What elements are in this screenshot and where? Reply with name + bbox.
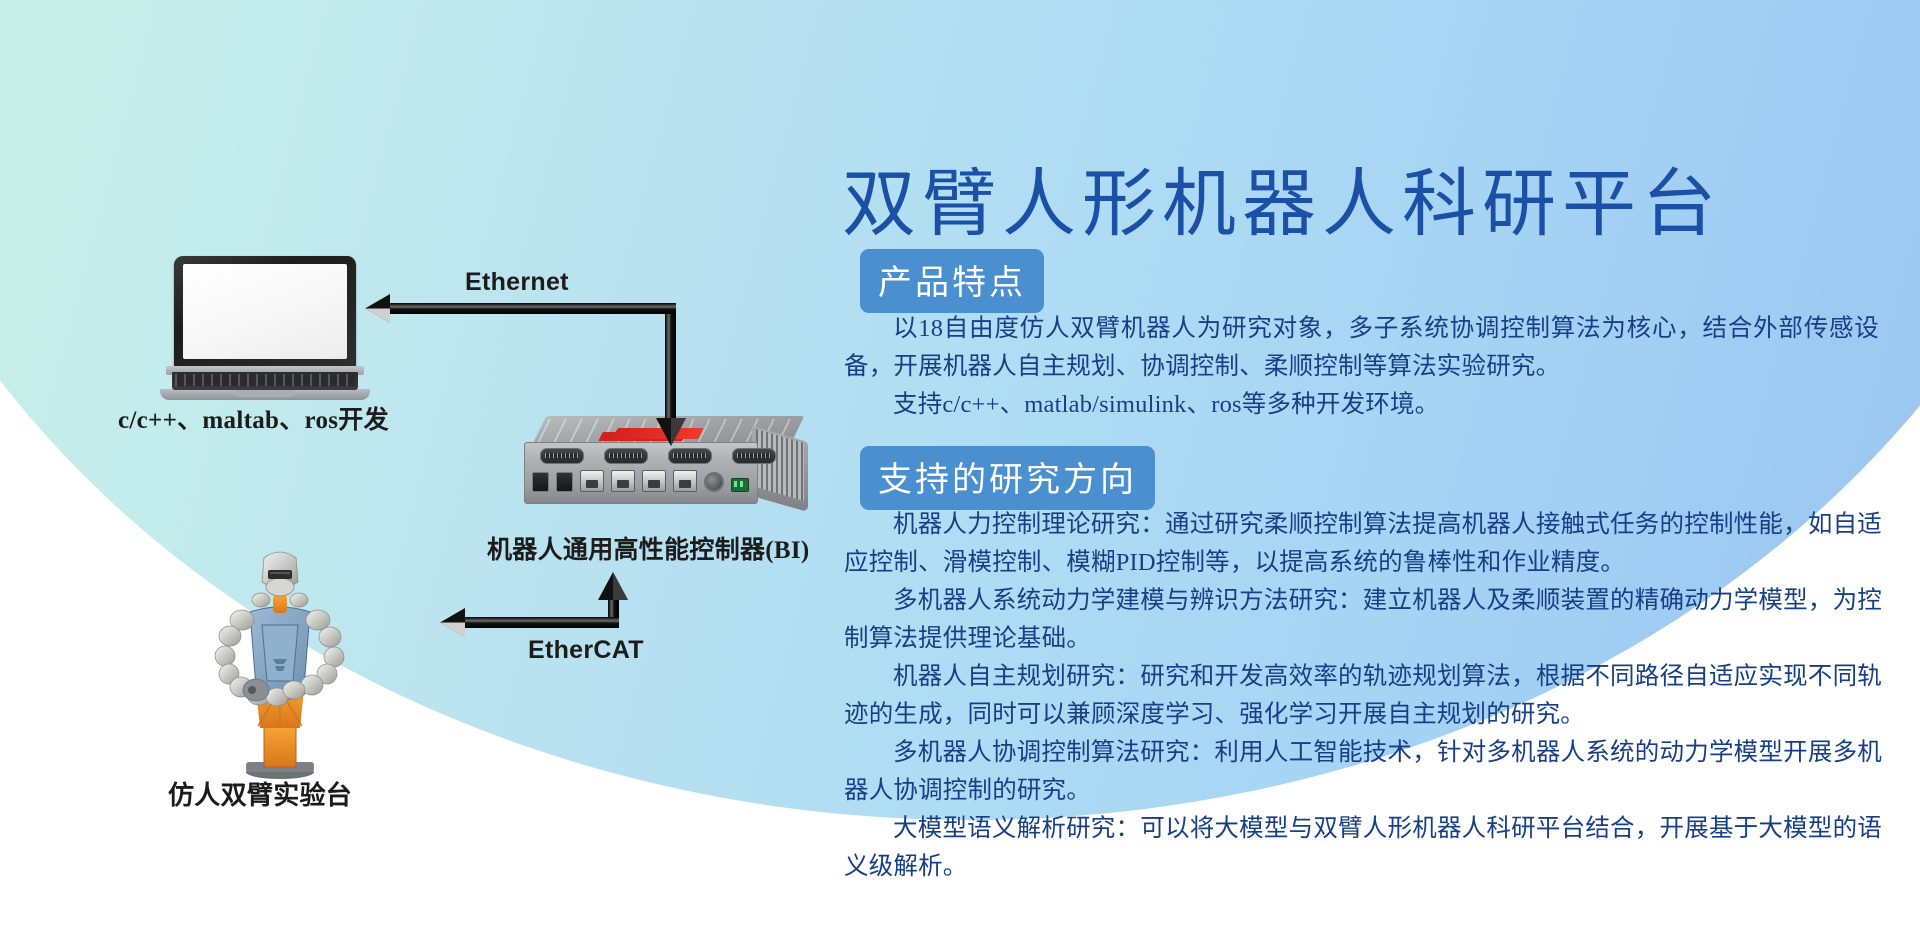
direction-item: 机器人力控制理论研究：通过研究柔顺控制算法提高机器人接触式任务的控制性能，如自适…	[844, 506, 1882, 582]
content-column: 双臂人形机器人科研平台 产品特点 以18自由度仿人双臂机器人为研究对象，多子系统…	[830, 0, 1890, 937]
link-label-ethernet: Ethernet	[465, 268, 569, 297]
section-badge-features: 产品特点	[860, 249, 1044, 313]
poster-root: Ethernet EtherCAT c/c++、maltab、ros开发 机器人…	[0, 0, 1920, 937]
link-label-ethercat: EtherCAT	[528, 636, 644, 665]
direction-item: 机器人自主规划研究：研究和开发高效率的轨迹规划算法，根据不同路径自适应实现不同轨…	[844, 658, 1882, 734]
direction-item: 大模型语义解析研究：可以将大模型与双臂人形机器人科研平台结合，开展基于大模型的语…	[844, 810, 1882, 886]
laptop-label: c/c++、maltab、ros开发	[118, 400, 389, 436]
controller-label: 机器人通用高性能控制器(BI)	[487, 530, 810, 566]
research-directions-list: 机器人力控制理论研究：通过研究柔顺控制算法提高机器人接触式任务的控制性能，如自适…	[844, 506, 1882, 886]
direction-item: 多机器人协调控制算法研究：利用人工智能技术，针对多机器人系统的动力学模型开展多机…	[844, 734, 1882, 810]
page-title: 双臂人形机器人科研平台	[842, 168, 1882, 242]
feature-paragraph-2: 支持c/c++、matlab/simulink、ros等多种开发环境。	[844, 386, 1879, 424]
section-badge-directions: 支持的研究方向	[860, 446, 1155, 510]
system-diagram: Ethernet EtherCAT c/c++、maltab、ros开发 机器人…	[0, 0, 860, 937]
feature-paragraph-1: 以18自由度仿人双臂机器人为研究对象，多子系统协调控制算法为核心，结合外部传感设…	[844, 310, 1879, 386]
connection-arrows	[0, 0, 860, 937]
robot-label: 仿人双臂实验台	[168, 775, 352, 812]
direction-item: 多机器人系统动力学建模与辨识方法研究：建立机器人及柔顺装置的精确动力学模型，为控…	[844, 582, 1882, 658]
